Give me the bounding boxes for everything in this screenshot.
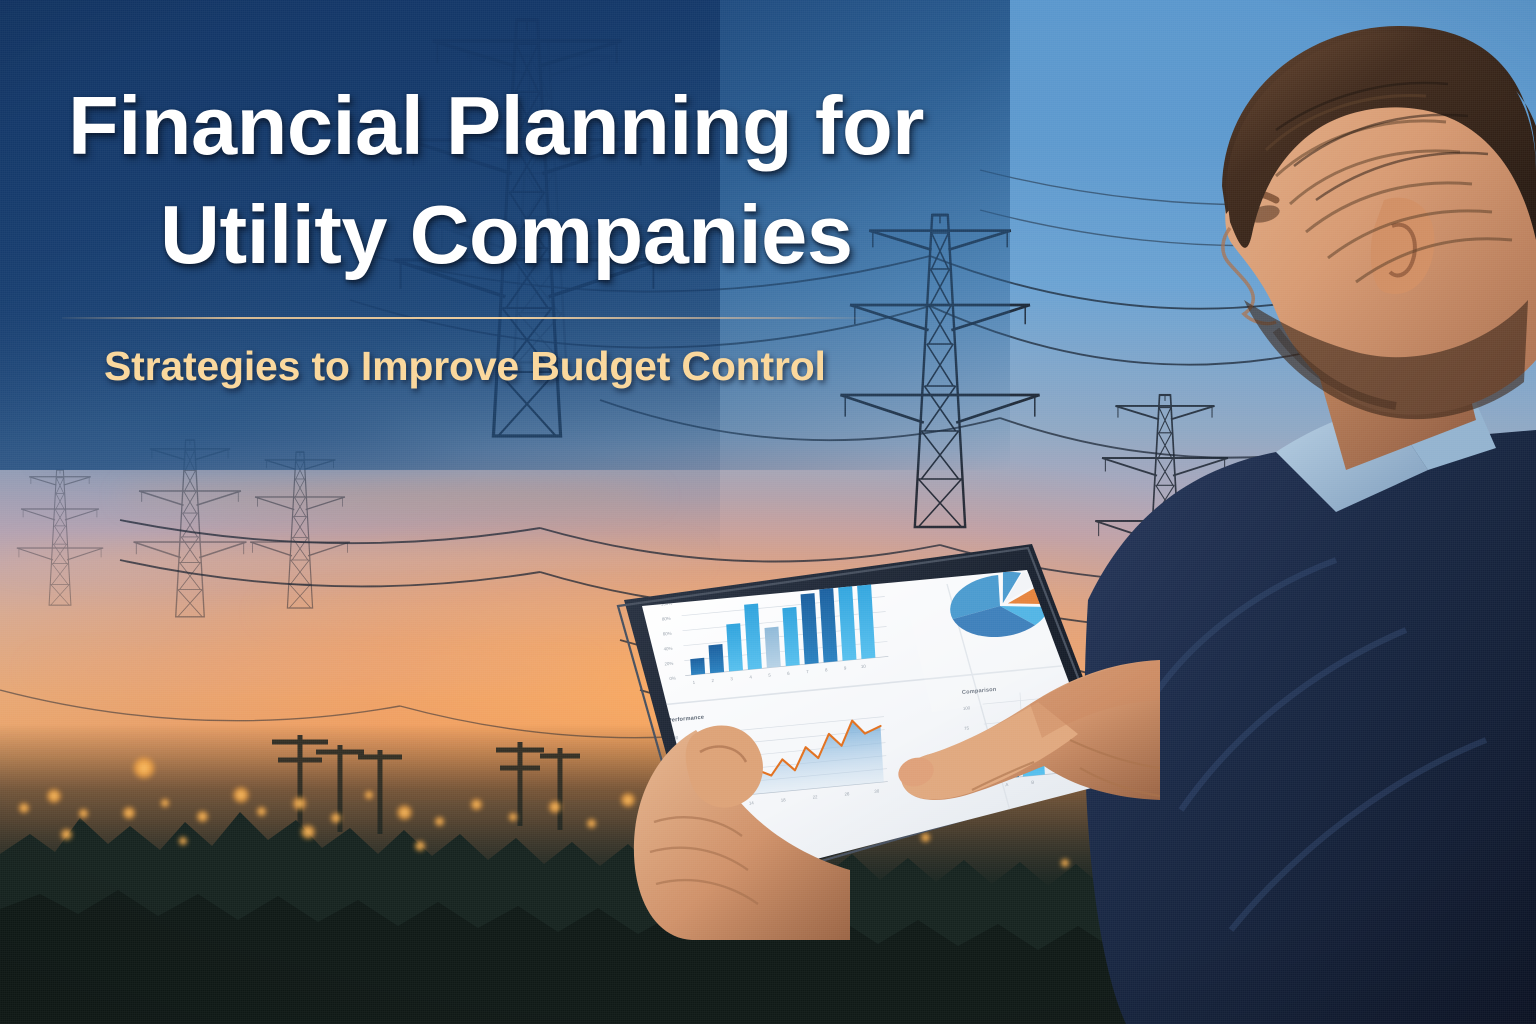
svg-text:20%: 20% — [1061, 589, 1070, 595]
svg-text:10%: 10% — [1063, 621, 1072, 627]
bar-chart-title: Dashboard — [656, 581, 688, 590]
svg-text:15%: 15% — [1062, 605, 1071, 611]
svg-text:25%: 25% — [1060, 573, 1069, 579]
tablet-device[interactable]: Dashboard 100% 80% 60% 40% 20% 0% — [600, 540, 1160, 940]
banner-image: Financial Planning for Utility Companies… — [0, 0, 1536, 1024]
page-title-line-2: Utility Companies — [160, 193, 853, 278]
page-subtitle: Strategies to Improve Budget Control — [104, 345, 826, 388]
page-title-line-1: Financial Planning for — [68, 84, 924, 169]
title-divider — [62, 317, 872, 319]
pie-chart-legend: 25% 20% 15% 10% — [1060, 573, 1072, 627]
